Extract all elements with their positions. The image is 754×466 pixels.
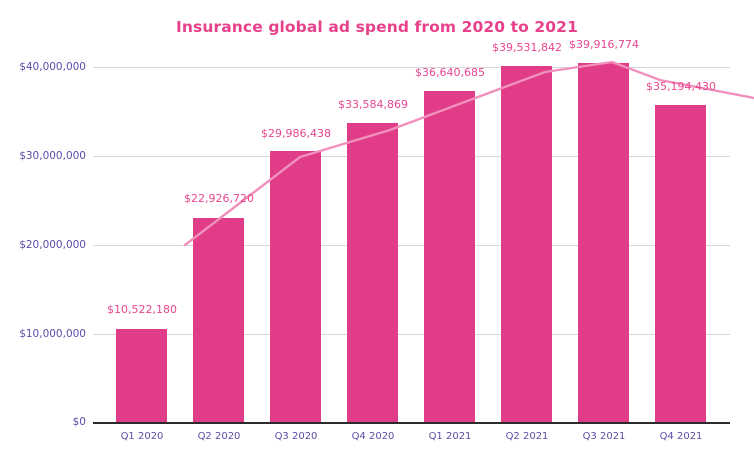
bar-value-label-q4-2020: $33,584,869: [323, 98, 423, 111]
bar-value-label-q3-2020: $29,986,438: [246, 127, 346, 140]
bar-value-label-q1-2021: $36,640,685: [400, 66, 500, 79]
bar-q4-2020[interactable]: [347, 123, 398, 422]
bar-q4-2021[interactable]: [655, 105, 706, 422]
bar-value-label-q3-2021: $39,916,774: [554, 38, 654, 51]
gridline-10m: [93, 334, 730, 335]
bar-q1-2021[interactable]: [424, 91, 475, 422]
bar-chart-figure: Insurance global ad spend from 2020 to 2…: [0, 0, 754, 466]
x-axis-line: [93, 422, 730, 424]
bar-value-label-q1-2020: $10,522,180: [92, 303, 192, 316]
bar-value-label-q4-2021: $35,194,430: [631, 80, 731, 93]
y-tick-label-0: $0: [0, 416, 86, 428]
bar-q1-2020[interactable]: [116, 329, 167, 422]
y-tick-label-40m: $40,000,000: [0, 61, 86, 73]
bar-q2-2020[interactable]: [193, 218, 244, 422]
x-tick-label-q4-2021: Q4 2021: [631, 431, 731, 442]
bar-value-label-q2-2020: $22,926,720: [169, 192, 269, 205]
bar-q3-2021[interactable]: [578, 63, 629, 422]
bar-q3-2020[interactable]: [270, 151, 321, 422]
y-tick-label-10m: $10,000,000: [0, 328, 86, 340]
plot-area: $40,000,000 $30,000,000 $20,000,000 $10,…: [0, 0, 754, 466]
bar-q2-2021[interactable]: [501, 66, 552, 422]
gridline-20m: [93, 245, 730, 246]
gridline-30m: [93, 156, 730, 157]
y-tick-label-20m: $20,000,000: [0, 239, 86, 251]
y-tick-label-30m: $30,000,000: [0, 150, 86, 162]
